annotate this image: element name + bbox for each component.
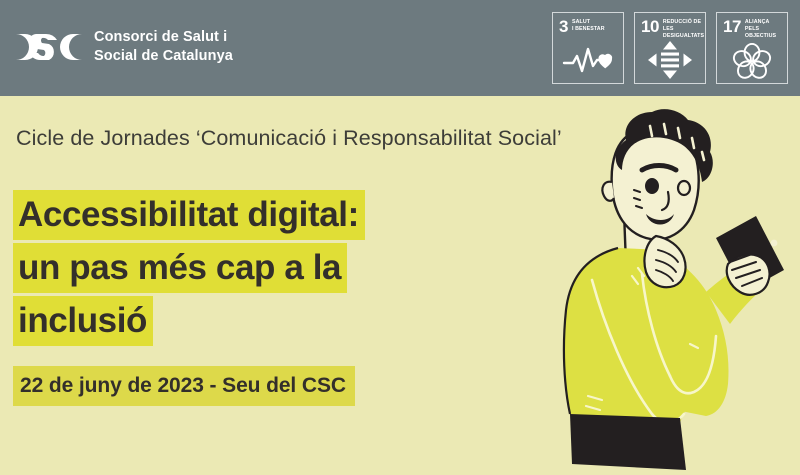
poster-canvas: Consorci de Salut i Social de Catalunya … — [0, 0, 800, 475]
sdg-badges: 3 SALUT I BENESTAR 10 REDUCCIÓ DE LES DE… — [552, 12, 788, 84]
person-with-smartphone-illustration — [530, 96, 800, 475]
csc-monogram-icon — [16, 32, 82, 62]
sdg-badge-3: 3 SALUT I BENESTAR — [552, 12, 624, 84]
sdg-badge-10: 10 REDUCCIÓ DE LES DESIGUALTATS — [634, 12, 706, 84]
event-series-subtitle: Cicle de Jornades ‘Comunicació i Respons… — [16, 126, 562, 151]
heartbeat-icon — [553, 39, 623, 81]
interlocking-circles-icon — [717, 39, 787, 81]
brand-lockup: Consorci de Salut i Social de Catalunya — [16, 28, 233, 65]
sdg-10-label: REDUCCIÓ DE LES DESIGUALTATS — [663, 18, 704, 40]
headline-line-2: un pas més cap a la — [13, 243, 347, 293]
sdg-3-label: SALUT I BENESTAR — [572, 18, 605, 33]
page-title: Accessibilitat digital: un pas més cap a… — [13, 190, 365, 349]
sdg-3-head: 3 SALUT I BENESTAR — [559, 18, 618, 40]
sdg-10-number: 10 — [641, 18, 659, 35]
headline-line-1: Accessibilitat digital: — [13, 190, 365, 240]
sdg-17-head: 17 ALIANÇA PELS OBJECTIUS — [723, 18, 782, 40]
sdg-3-number: 3 — [559, 18, 568, 35]
date-and-venue: 22 de juny de 2023 - Seu del CSC — [13, 366, 355, 406]
headline-line-3: inclusió — [13, 296, 153, 346]
header-bar: Consorci de Salut i Social de Catalunya … — [0, 0, 800, 96]
organization-name: Consorci de Salut i Social de Catalunya — [94, 28, 233, 65]
sdg-badge-17: 17 ALIANÇA PELS OBJECTIUS — [716, 12, 788, 84]
sdg-10-head: 10 REDUCCIÓ DE LES DESIGUALTATS — [641, 18, 700, 40]
sdg-17-number: 17 — [723, 18, 741, 35]
sdg-17-label: ALIANÇA PELS OBJECTIUS — [745, 18, 782, 40]
equals-arrows-icon — [635, 39, 705, 81]
